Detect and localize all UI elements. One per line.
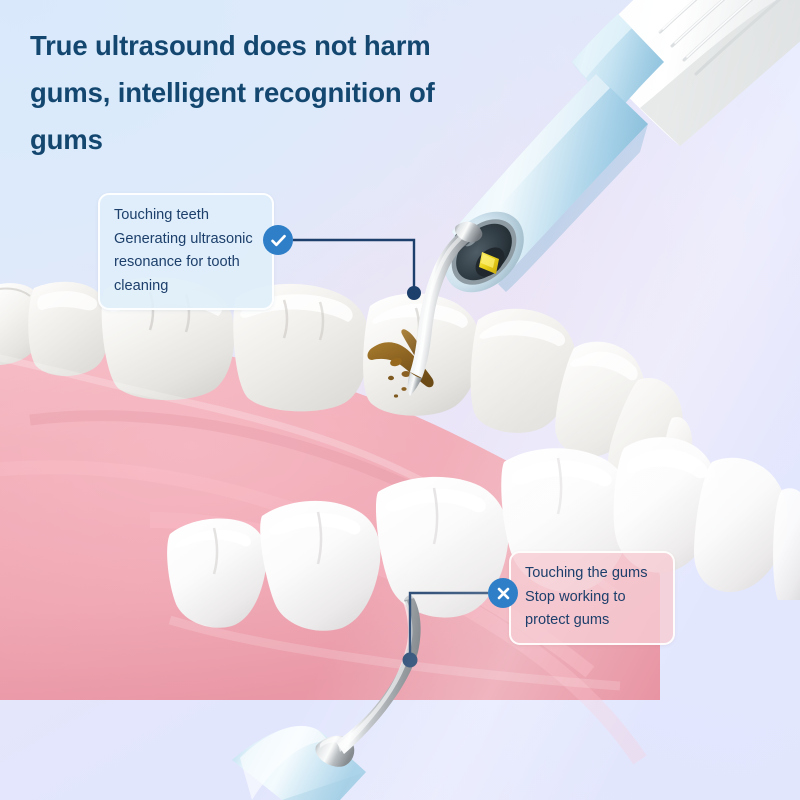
headline-line-1: True ultrasound does not harm (30, 22, 550, 69)
page-title: True ultrasound does not harm gums, inte… (30, 22, 550, 163)
callout-gums-line-1: Touching the gums (525, 562, 660, 586)
infographic-canvas: True ultrasound does not harm gums, inte… (0, 0, 800, 800)
callout-teeth-line-3: resonance for tooth (114, 251, 259, 275)
callout-teeth-line-2: Generating ultrasonic (114, 228, 259, 252)
headline-line-3: gums (30, 116, 550, 163)
callout-touching-teeth: Touching teeth Generating ultrasonic res… (98, 193, 274, 310)
callout-teeth-line-1: Touching teeth (114, 204, 259, 228)
callout-gums-line-3: protect gums (525, 609, 660, 633)
callout-touching-gums: Touching the gums Stop working to protec… (509, 551, 675, 645)
check-icon (263, 225, 293, 255)
headline-line-2: gums, intelligent recognition of (30, 69, 550, 116)
cross-icon (488, 578, 518, 608)
callout-teeth-line-4: cleaning (114, 275, 259, 299)
callout-gums-line-2: Stop working to (525, 586, 660, 610)
